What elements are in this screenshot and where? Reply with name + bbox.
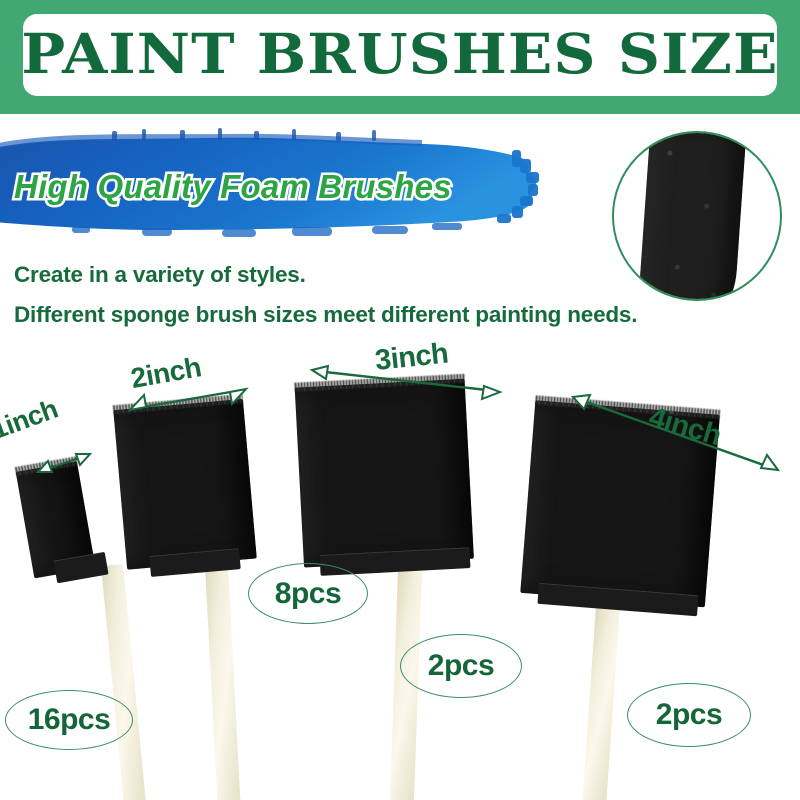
measure-arrow-4inch bbox=[560, 388, 790, 483]
pcs-badge-2-a: 2pcs bbox=[400, 634, 522, 698]
measure-arrow-2inch bbox=[118, 382, 258, 416]
brush-4inch-handle bbox=[582, 605, 620, 800]
measure-arrow-1inch bbox=[26, 448, 106, 478]
pcs-badge-16: 16pcs bbox=[5, 690, 133, 750]
measure-arrow-3inch bbox=[300, 357, 510, 399]
poster-canvas: PAINT BRUSHES SIZE bbox=[0, 0, 800, 800]
pcs-badge-2-b: 2pcs bbox=[627, 683, 751, 747]
pcs-badge-8: 8pcs bbox=[248, 563, 368, 624]
